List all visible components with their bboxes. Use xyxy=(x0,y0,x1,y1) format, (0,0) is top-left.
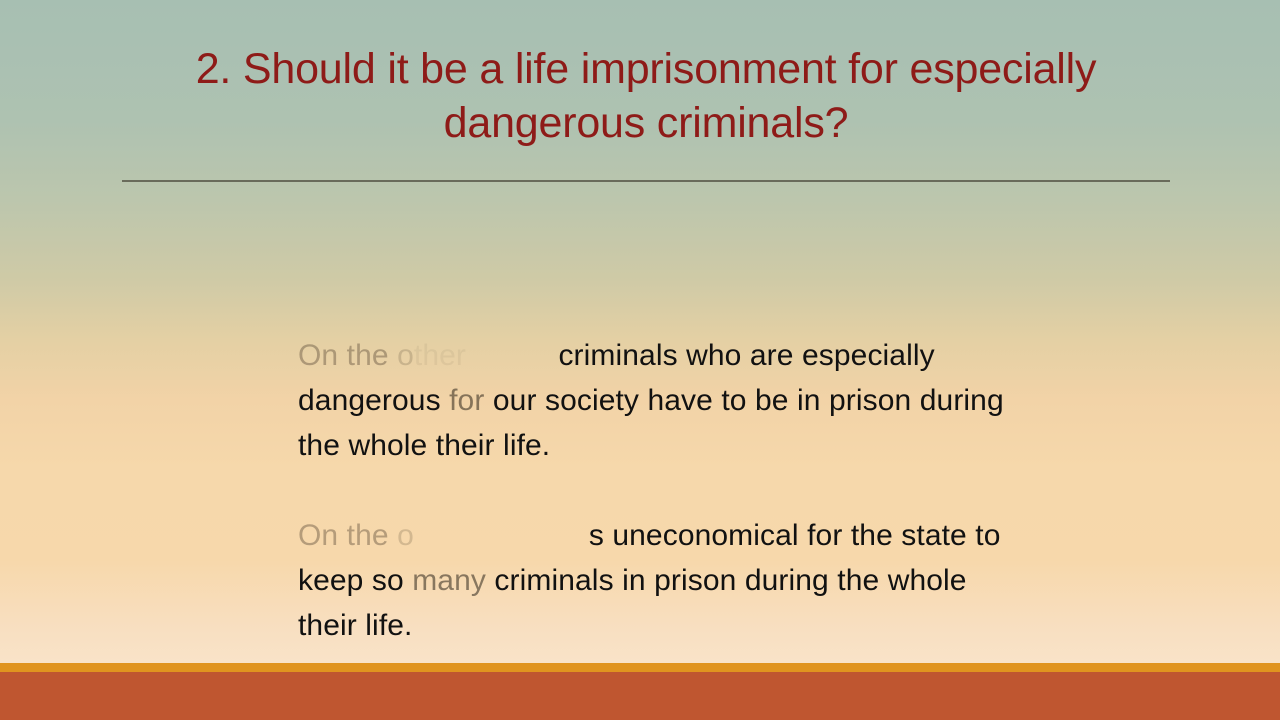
presentation-slide: 2. Should it be a life imprisonment for … xyxy=(0,0,1280,720)
title-divider xyxy=(122,180,1170,182)
paragraph-1-segment-6: for xyxy=(449,384,484,417)
paragraph-2-segment-1: On the xyxy=(298,519,397,552)
body-paragraph-1: On the other hand, criminals who are esp… xyxy=(298,333,1028,468)
footer-terracotta-bar xyxy=(0,672,1280,720)
slide-title: 2. Should it be a life imprisonment for … xyxy=(120,42,1172,150)
paragraph-2-segment-5: many xyxy=(412,564,486,597)
paragraph-1-segment-2: o xyxy=(397,339,414,372)
footer-gold-bar xyxy=(0,663,1280,672)
paragraph-2-segment-2: o xyxy=(397,519,414,552)
slide-title-line-2: dangerous criminals? xyxy=(120,96,1172,150)
slide-title-line-1: 2. Should it be a life imprisonment for … xyxy=(120,42,1172,96)
paragraph-1-segment-1: On the xyxy=(298,339,397,372)
slide-body: On the other hand, criminals who are esp… xyxy=(298,303,1028,678)
paragraph-2-segment-3: ther hand, it i xyxy=(414,519,589,552)
paragraph-1-segment-4: hand, xyxy=(466,339,550,372)
paragraph-1-segment-3: ther xyxy=(414,339,466,372)
body-paragraph-2: On the other hand, it is uneconomical fo… xyxy=(298,513,1028,648)
